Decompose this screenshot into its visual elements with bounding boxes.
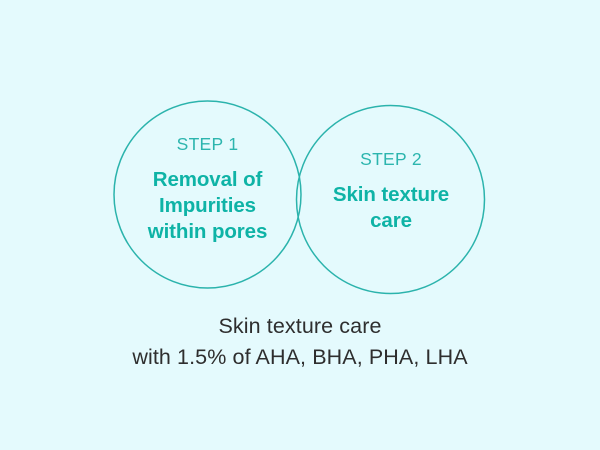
caption-block: Skin texture care with 1.5% of AHA, BHA,… — [0, 311, 600, 372]
caption-line-1: Skin texture care — [0, 311, 600, 342]
step-2-label: STEP 2 — [297, 151, 485, 169]
step-1-body-line-2: Impurities — [114, 193, 301, 219]
step-2-body: Skin texture care — [297, 182, 485, 234]
step-2-body-line-1: Skin texture — [297, 182, 485, 208]
venn-infographic: STEP 1 Removal of Impurities within pore… — [0, 0, 600, 450]
circle-step-1-content: STEP 1 Removal of Impurities within pore… — [114, 136, 301, 245]
step-1-body: Removal of Impurities within pores — [114, 167, 301, 245]
venn-diagram: STEP 1 Removal of Impurities within pore… — [0, 0, 600, 300]
step-1-body-line-1: Removal of — [114, 167, 301, 193]
step-1-body-line-3: within pores — [114, 219, 301, 245]
step-2-body-line-2: care — [297, 208, 485, 234]
circle-step-2-content: STEP 2 Skin texture care — [297, 151, 485, 234]
step-1-label: STEP 1 — [114, 136, 301, 154]
caption-line-2: with 1.5% of AHA, BHA, PHA, LHA — [0, 342, 600, 373]
